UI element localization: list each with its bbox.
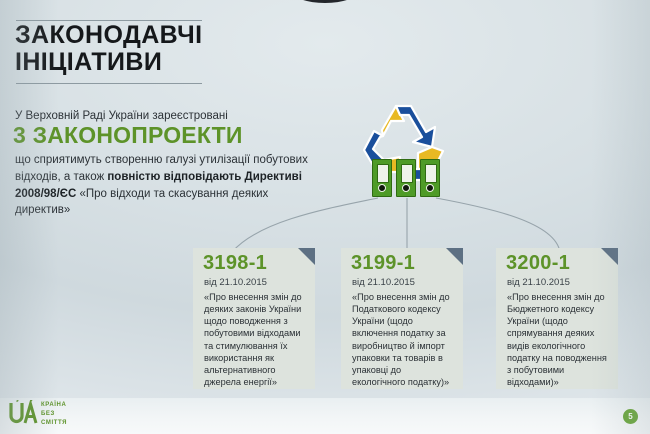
page-title: ЗАКОНОДАВЧІ ІНІЦІАТИВИ: [15, 22, 345, 76]
bill-number: 3198-1: [203, 252, 267, 275]
folded-corner-icon: [446, 248, 463, 265]
bill-card[interactable]: 3198-1 від 21.10.2015 «Про внесення змін…: [193, 248, 315, 389]
folder-label: [401, 164, 413, 183]
brand-logo: КРАЇНА БЕЗ СМІТТЯ: [8, 398, 118, 428]
folder-ring-icon: [378, 184, 386, 192]
folder-ring-icon: [402, 184, 410, 192]
folder-label: [425, 164, 437, 183]
folded-corner-icon: [601, 248, 618, 265]
folder-label: [377, 164, 389, 183]
bill-description: «Про внесення змін до деяких законів Укр…: [204, 291, 308, 388]
folded-corner-icon: [298, 248, 315, 265]
bill-number: 3199-1: [351, 252, 415, 275]
bill-number: 3200-1: [506, 252, 570, 275]
page-title-line2: ІНІЦІАТИВИ: [15, 49, 345, 76]
bill-card[interactable]: 3200-1 від 21.10.2015 «Про внесення змін…: [496, 248, 618, 389]
bill-description: «Про внесення змін до Бюджетного кодексу…: [507, 291, 611, 388]
binder-folder-icon: [396, 159, 416, 197]
brand-logo-text: КРАЇНА БЕЗ СМІТТЯ: [41, 401, 67, 428]
brand-line-2: БЕЗ: [41, 410, 67, 419]
slide-canvas: ЗАКОНОДАВЧІ ІНІЦІАТИВИ У Верховній Раді …: [0, 0, 650, 434]
ua-logo-icon: [8, 400, 38, 426]
binder-folder-icon: [372, 159, 392, 197]
bill-card[interactable]: 3199-1 від 21.10.2015 «Про внесення змін…: [341, 248, 463, 389]
bill-date: від 21.10.2015: [204, 277, 267, 288]
body-copy: що сприятимуть створенню галузі утилізац…: [15, 152, 325, 219]
page-title-line1: ЗАКОНОДАВЧІ: [15, 21, 202, 49]
binder-folders-group: [372, 159, 442, 197]
title-bottom-rule: [16, 83, 202, 84]
binder-folder-icon: [420, 159, 440, 197]
bill-date: від 21.10.2015: [352, 277, 415, 288]
top-decoration: [292, 0, 358, 3]
folder-ring-icon: [426, 184, 434, 192]
page-number-badge: 5: [623, 409, 638, 424]
bill-date: від 21.10.2015: [507, 277, 570, 288]
bill-description: «Про внесення змін до Податкового кодекс…: [352, 291, 456, 388]
brand-line-1: КРАЇНА: [41, 401, 67, 410]
highlight-text: 3 ЗАКОНОПРОЕКТИ: [13, 122, 343, 149]
brand-line-3: СМІТТЯ: [41, 419, 67, 428]
